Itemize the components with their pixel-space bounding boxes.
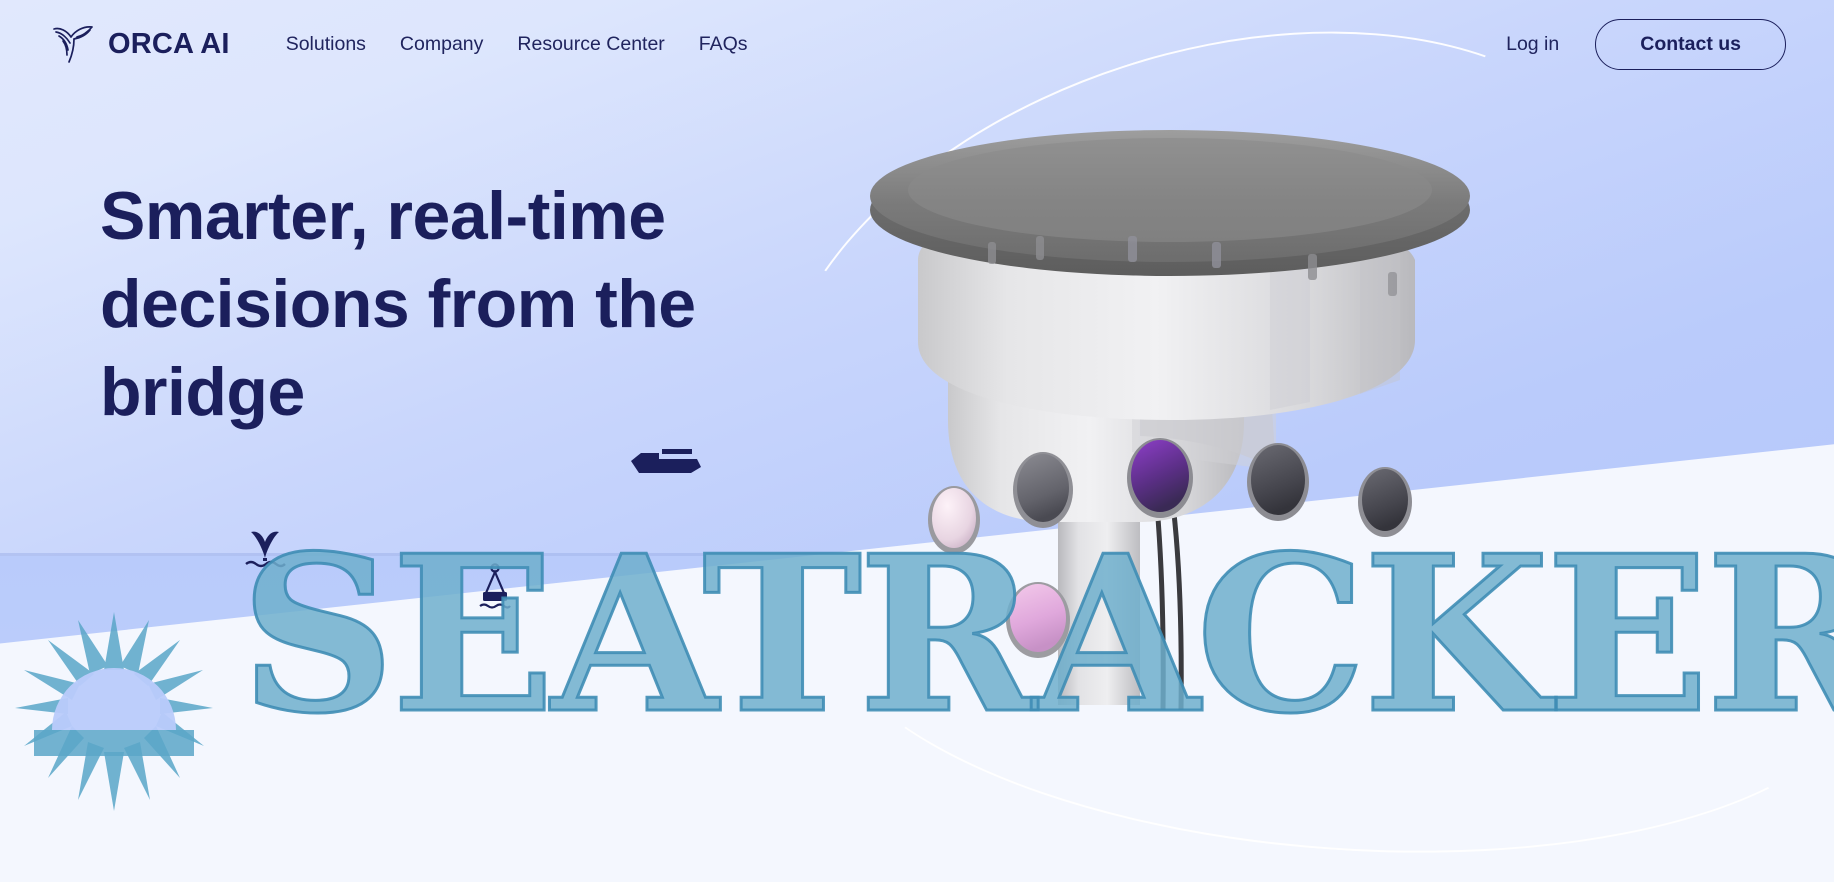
buoy-icon xyxy=(476,563,514,613)
contact-us-button[interactable]: Contact us xyxy=(1595,19,1786,70)
camera-sensor-device-image xyxy=(840,90,1540,710)
hero-headline-line-3: bridge xyxy=(100,354,305,430)
login-link[interactable]: Log in xyxy=(1506,33,1559,56)
whale-tail-icon xyxy=(240,528,290,568)
hero-section: Smarter, real-time decisions from the br… xyxy=(100,172,780,436)
brand-logo[interactable]: ORCA AI xyxy=(50,24,230,64)
page-root: ORCA AI Solutions Company Resource Cente… xyxy=(0,0,1834,882)
hero-headline: Smarter, real-time decisions from the br… xyxy=(100,172,780,436)
hero-headline-line-1: Smarter, real-time xyxy=(100,178,666,254)
brand-name: ORCA AI xyxy=(108,28,230,61)
site-header: ORCA AI Solutions Company Resource Cente… xyxy=(0,0,1834,88)
whale-tail-logo-icon xyxy=(50,24,96,64)
nav-item-solutions[interactable]: Solutions xyxy=(286,33,366,56)
header-actions: Log in Contact us xyxy=(1506,19,1786,70)
nav-item-company[interactable]: Company xyxy=(400,33,483,56)
hero-headline-line-2: decisions from the xyxy=(100,266,696,342)
nav-item-faqs[interactable]: FAQs xyxy=(699,33,748,56)
primary-navigation: Solutions Company Resource Center FAQs xyxy=(286,33,748,56)
nav-item-resource-center[interactable]: Resource Center xyxy=(517,33,664,56)
ship-icon xyxy=(629,447,703,477)
